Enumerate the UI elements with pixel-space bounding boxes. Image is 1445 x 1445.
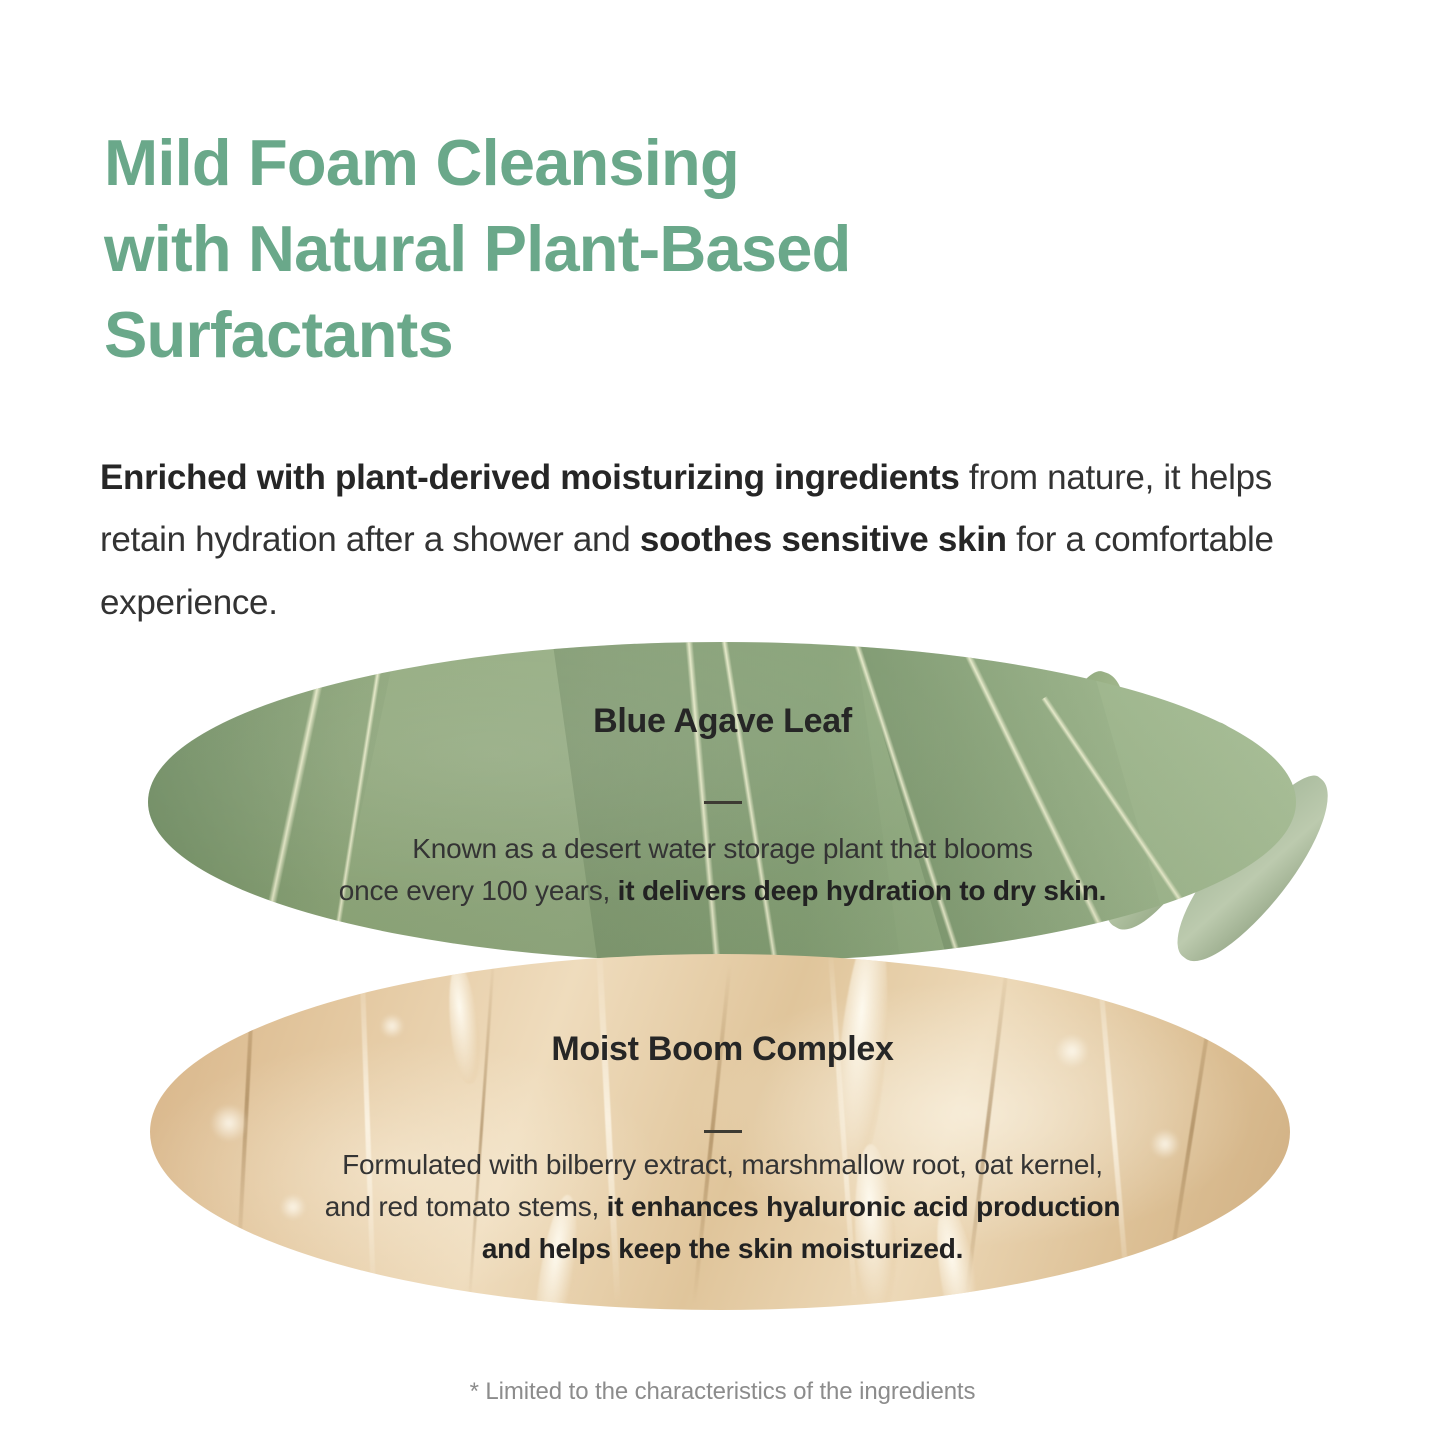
card-divider-blue-agave [0, 775, 1445, 804]
footnote: * Limited to the characteristics of the … [0, 1378, 1445, 1406]
moist-body-line-2-plain: and red tomato stems, [325, 1191, 607, 1222]
moist-body-line-3-bold: and helps keep the skin moisturized. [482, 1233, 963, 1264]
card-body-moist-boom: Formulated with bilberry extract, marshm… [0, 1144, 1445, 1270]
card-divider-moist-boom [0, 1104, 1445, 1133]
intro-paragraph: Enriched with plant-derived moisturizing… [100, 447, 1350, 634]
product-detail-page: Mild Foam Cleansing with Natural Plant-B… [0, 0, 1445, 1445]
ingredient-cards: Blue Agave Leaf Known as a desert water … [0, 620, 1445, 1330]
headline-line-3: Surfactants [104, 298, 453, 371]
divider-line [704, 1130, 742, 1133]
card-title-moist-boom: Moist Boom Complex [0, 1030, 1445, 1069]
agave-body-line-1: Known as a desert water storage plant th… [412, 833, 1033, 864]
moist-body-line-2-bold: it enhances hyaluronic acid production [607, 1191, 1121, 1222]
card-body-blue-agave: Known as a desert water storage plant th… [0, 828, 1445, 912]
page-title: Mild Foam Cleansing with Natural Plant-B… [104, 120, 1254, 379]
intro-bold-2: soothes sensitive skin [640, 520, 1007, 559]
headline-line-2: with Natural Plant-Based [104, 212, 851, 285]
moist-body-line-1: Formulated with bilberry extract, marshm… [342, 1149, 1103, 1180]
headline-line-1: Mild Foam Cleansing [104, 126, 739, 199]
agave-body-line-2-bold: it delivers deep hydration to dry skin. [618, 875, 1107, 906]
agave-body-line-2-plain: once every 100 years, [339, 875, 618, 906]
divider-line [704, 801, 742, 804]
intro-bold-1: Enriched with plant-derived moisturizing… [100, 458, 960, 497]
card-title-blue-agave: Blue Agave Leaf [0, 702, 1445, 741]
